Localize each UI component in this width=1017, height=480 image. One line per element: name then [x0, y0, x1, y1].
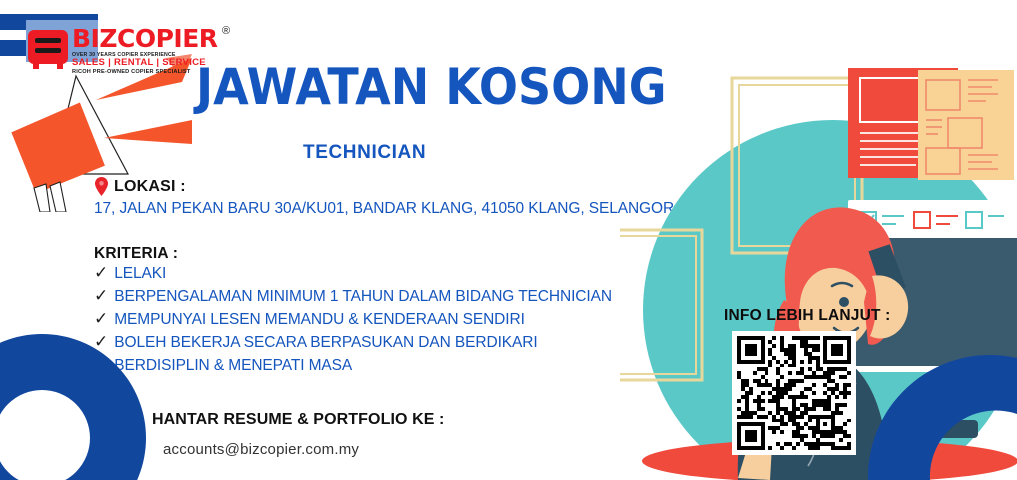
apply-label: HANTAR RESUME & PORTFOLIO KE :	[152, 411, 444, 429]
criteria-text: LELAKI	[114, 265, 166, 283]
cream-poster-illustration	[918, 70, 1014, 180]
bizcopier-logo: BIZCOPIER ® OVER 30 YEARS COPIER EXPERIE…	[28, 26, 223, 74]
info-label: INFO LEBIH LANJUT :	[724, 307, 891, 325]
location-pin-icon	[95, 177, 108, 196]
list-item: ✓ BERDISIPLIN & MENEPATI MASA	[94, 357, 612, 380]
registered-mark-icon: ®	[222, 25, 230, 37]
check-icon: ✓	[94, 288, 108, 305]
criteria-text: BERPENGALAMAN MINIMUM 1 TAHUN DALAM BIDA…	[114, 288, 612, 306]
list-item: ✓ BOLEH BEKERJA SECARA BERPASUKAN DAN BE…	[94, 334, 612, 357]
page-title: JAWATAN KOSONG	[196, 58, 666, 116]
list-item: ✓ BERPENGALAMAN MINIMUM 1 TAHUN DALAM BI…	[94, 288, 612, 311]
location-address: 17, JALAN PEKAN BARU 30A/KU01, BANDAR KL…	[94, 200, 674, 218]
logo-text-block: BIZCOPIER ® OVER 30 YEARS COPIER EXPERIE…	[72, 26, 222, 75]
criteria-text: BERDISIPLIN & MENEPATI MASA	[114, 357, 352, 375]
list-item: ✓ LELAKI	[94, 265, 612, 288]
qr-code[interactable]	[732, 331, 856, 455]
check-icon: ✓	[94, 311, 108, 328]
criteria-list: ✓ LELAKI ✓ BERPENGALAMAN MINIMUM 1 TAHUN…	[94, 265, 612, 380]
criteria-text: MEMPUNYAI LESEN MEMANDU & KENDERAAN SEND…	[114, 311, 525, 329]
location-label: LOKASI :	[114, 178, 186, 196]
logo-tagline-specialist: RICOH PRE-OWNED COPIER SPECIALIST	[72, 69, 222, 75]
criteria-text: BOLEH BEKERJA SECARA BERPASUKAN DAN BERD…	[114, 334, 537, 352]
check-icon: ✓	[94, 265, 108, 282]
list-item: ✓ MEMPUNYAI LESEN MEMANDU & KENDERAAN SE…	[94, 311, 612, 334]
copier-foot-right-icon	[57, 62, 63, 69]
qr-code-grid	[737, 336, 851, 450]
criteria-label: KRITERIA :	[94, 245, 178, 263]
job-poster: JAWATAN KOSONG TECHNICIAN LOKASI : 17, J…	[0, 0, 1017, 480]
copier-foot-left-icon	[33, 62, 39, 69]
logo-name: BIZCOPIER	[72, 26, 222, 51]
apply-email: accounts@bizcopier.com.my	[163, 441, 359, 458]
job-position-title: TECHNICIAN	[303, 142, 426, 164]
copier-machine-icon	[28, 30, 68, 64]
logo-tagline-services: SALES | RENTAL | SERVICE	[72, 58, 222, 69]
location-row: LOKASI :	[95, 177, 186, 196]
